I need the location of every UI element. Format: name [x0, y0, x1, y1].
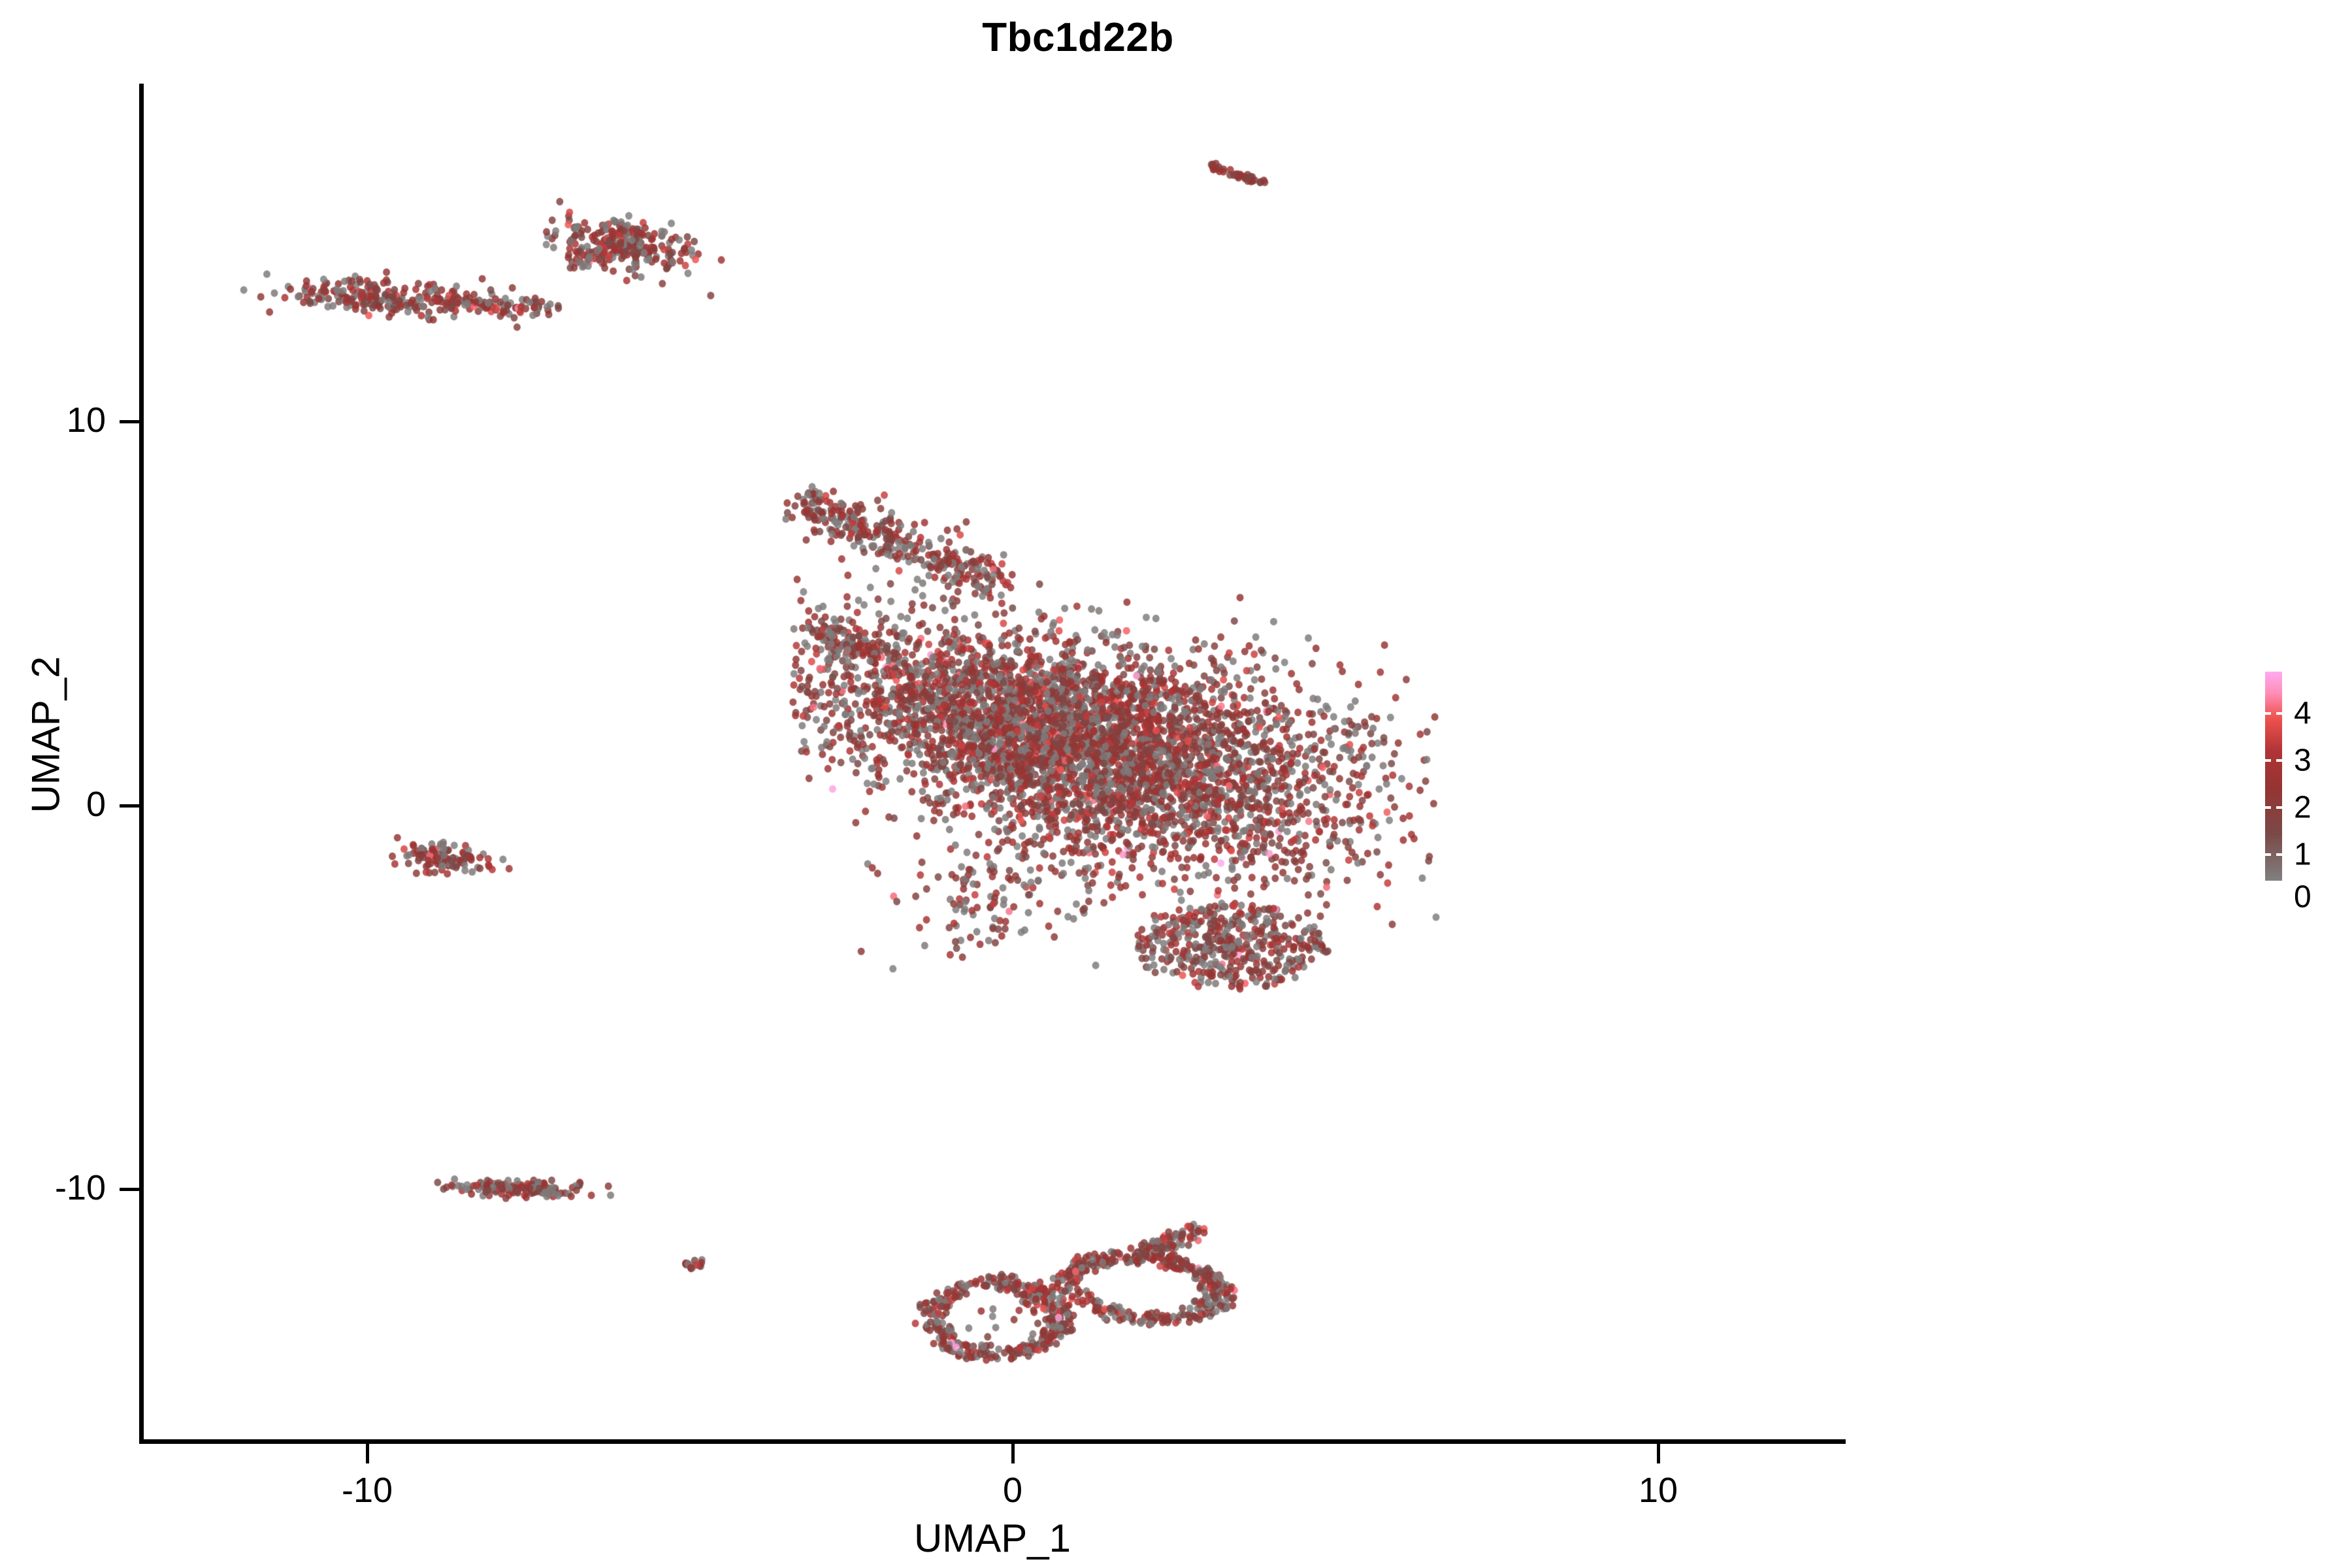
y-axis-line [139, 84, 144, 1444]
x-tick-mark-0 [1011, 1443, 1015, 1463]
page-title: Tbc1d22b [0, 14, 2156, 61]
y-tick-label-10: 10 [67, 400, 106, 440]
colorbar-label-4: 4 [2294, 696, 2311, 732]
y-tick-mark-10 [120, 420, 140, 423]
colorbar-label-3: 3 [2294, 743, 2311, 779]
x-tick-label-10: 10 [1639, 1470, 1678, 1511]
x-tick-mark-10 [1657, 1443, 1660, 1463]
y-tick-mark-neg10 [120, 1188, 140, 1191]
y-tick-mark-0 [120, 804, 140, 808]
y-axis-title: UMAP_2 [24, 474, 69, 996]
colorbar-tick-1-left [2265, 853, 2271, 856]
y-tick-label-neg10: -10 [55, 1168, 106, 1208]
x-tick-mark-neg10 [366, 1443, 369, 1463]
colorbar-gradient [2265, 672, 2282, 881]
x-axis-title: UMAP_1 [139, 1516, 1846, 1561]
colorbar-tick-2-left [2265, 806, 2271, 809]
x-axis-line [139, 1439, 1846, 1444]
scatter-canvas [144, 84, 1845, 1441]
colorbar-label-2: 2 [2294, 790, 2311, 826]
colorbar-tick-4-left [2265, 712, 2271, 715]
y-tick-label-0: 0 [86, 784, 106, 825]
colorbar-legend: 4 3 2 1 0 [2265, 672, 2350, 887]
colorbar-tick-2-right [2276, 806, 2282, 809]
plot-panel [144, 84, 1845, 1441]
colorbar-label-1: 1 [2294, 837, 2311, 873]
colorbar-tick-4-right [2276, 712, 2282, 715]
figure-root: Tbc1d22b 10 0 -10 -10 0 10 UMAP_1 UMAP_2… [0, 0, 2352, 1568]
x-tick-label-0: 0 [1003, 1470, 1022, 1511]
colorbar-tick-3-left [2265, 759, 2271, 762]
colorbar-label-0: 0 [2294, 879, 2311, 915]
colorbar-tick-3-right [2276, 759, 2282, 762]
x-tick-label-neg10: -10 [342, 1470, 393, 1511]
colorbar-tick-1-right [2276, 853, 2282, 856]
